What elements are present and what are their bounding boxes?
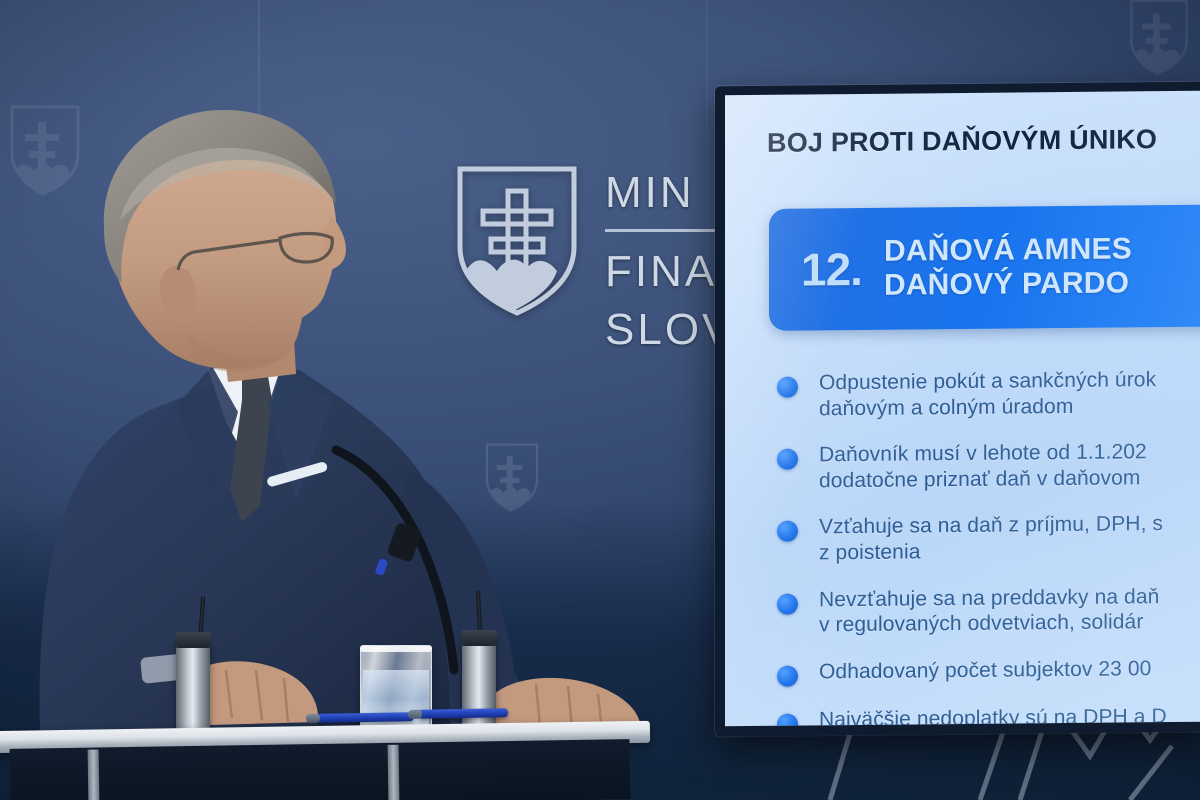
slide-section-title-line-2: DAŇOVÝ PARDO [884, 266, 1132, 302]
bullet-dot-icon [777, 713, 798, 726]
lectern-leg [88, 749, 100, 800]
slide-bullet-text: Najväčšie nedoplatky sú na DPH a D [819, 704, 1167, 726]
microphone-head-right [461, 630, 497, 646]
slide-section-number: 12. [769, 246, 884, 293]
blue-pen-second-cap [408, 710, 422, 719]
bullet-dot-icon [777, 377, 798, 398]
presentation-slide: BOJ PROTI DAŇOVÝM ÚNIKO 12. DAŇOVÁ AMNES… [725, 91, 1200, 727]
microphone-right[interactable] [462, 638, 496, 736]
lectern-leg [388, 745, 400, 800]
microphone-head-left [175, 632, 211, 648]
blue-pen-second[interactable] [418, 708, 508, 719]
presentation-screen[interactable]: BOJ PROTI DAŇOVÝM ÚNIKO 12. DAŇOVÁ AMNES… [715, 82, 1200, 737]
bullet-dot-icon [777, 593, 798, 614]
broadcast-frame: MIN FINA SLOV [0, 0, 1200, 800]
slide-bullet-text: Nevzťahuje sa na preddavky na daň v regu… [819, 584, 1159, 638]
slide-bullet-text: Vzťahuje sa na daň z príjmu, DPH, s z po… [819, 512, 1163, 567]
blue-pen[interactable] [316, 712, 414, 723]
slide-bullet-item: Najväčšie nedoplatky sú na DPH a D [777, 702, 1200, 726]
lectern-body [10, 739, 631, 800]
slide-bullet-text: Odhadovaný počet subjektov 23 00 [819, 656, 1151, 685]
blue-pen-cap [306, 714, 320, 723]
bullet-dot-icon [777, 449, 798, 470]
slide-section-title: DAŇOVÁ AMNES DAŇOVÝ PARDO [884, 233, 1132, 303]
slide-bullet-item: Nevzťahuje sa na preddavky na daň v regu… [777, 582, 1200, 639]
microphone-left[interactable] [176, 640, 210, 736]
male-speaker-at-podium [0, 70, 660, 730]
slide-section-banner: 12. DAŇOVÁ AMNES DAŇOVÝ PARDO [769, 203, 1200, 330]
slide-bullet-item: Daňovník musí v lehote od 1.1.202 dodato… [777, 438, 1200, 495]
slide-bullet-list: Odpustenie pokút a sankčných úrok daňový… [777, 365, 1200, 726]
slide-bullet-item: Odhadovaný počet subjektov 23 00 [777, 654, 1200, 686]
bullet-dot-icon [777, 521, 798, 542]
slide-bullet-text: Odpustenie pokút a sankčných úrok daňový… [819, 367, 1156, 421]
bullet-dot-icon [777, 665, 798, 686]
water-glass-rim [360, 646, 432, 652]
slide-title: BOJ PROTI DAŇOVÝM ÚNIKO [767, 124, 1157, 159]
slide-bullet-item: Vzťahuje sa na daň z príjmu, DPH, s z po… [777, 510, 1200, 567]
slide-bullet-text: Daňovník musí v lehote od 1.1.202 dodato… [819, 439, 1147, 493]
slide-bullet-item: Odpustenie pokút a sankčných úrok daňový… [777, 365, 1200, 422]
slide-section-title-line-1: DAŇOVÁ AMNES [884, 233, 1132, 269]
